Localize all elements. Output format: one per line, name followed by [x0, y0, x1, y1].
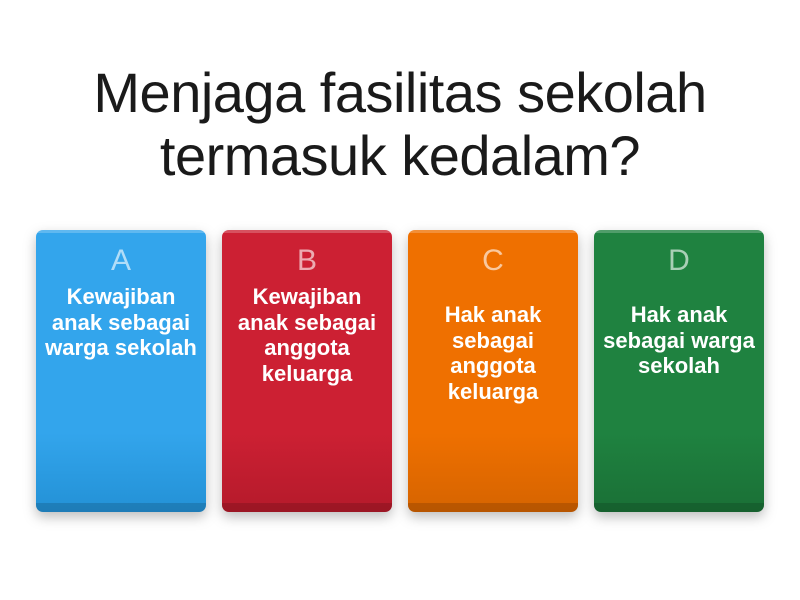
answer-text-a: Kewajiban anak sebagai warga sekolah — [44, 284, 198, 361]
answer-text-b: Kewajiban anak sebagai anggota keluarga — [230, 284, 384, 386]
question-container: Menjaga fasilitas sekolah termasuk kedal… — [0, 62, 800, 187]
answer-letter-c: C — [482, 246, 504, 276]
answer-letter-a: A — [111, 246, 131, 276]
answer-options-row: A Kewajiban anak sebagai warga sekolah B… — [36, 230, 764, 515]
answer-text-c: Hak anak sebagai anggota keluarga — [416, 302, 570, 404]
answer-card-a[interactable]: A Kewajiban anak sebagai warga sekolah — [36, 230, 206, 512]
answer-text-d: Hak anak sebagai warga sekolah — [602, 302, 756, 379]
answer-card-b[interactable]: B Kewajiban anak sebagai anggota keluarg… — [222, 230, 392, 512]
question-text: Menjaga fasilitas sekolah termasuk kedal… — [0, 62, 800, 187]
quiz-slide: Menjaga fasilitas sekolah termasuk kedal… — [0, 0, 800, 600]
answer-card-d[interactable]: D Hak anak sebagai warga sekolah — [594, 230, 764, 512]
answer-card-c[interactable]: C Hak anak sebagai anggota keluarga — [408, 230, 578, 512]
answer-letter-d: D — [668, 246, 690, 276]
answer-letter-b: B — [297, 246, 317, 276]
